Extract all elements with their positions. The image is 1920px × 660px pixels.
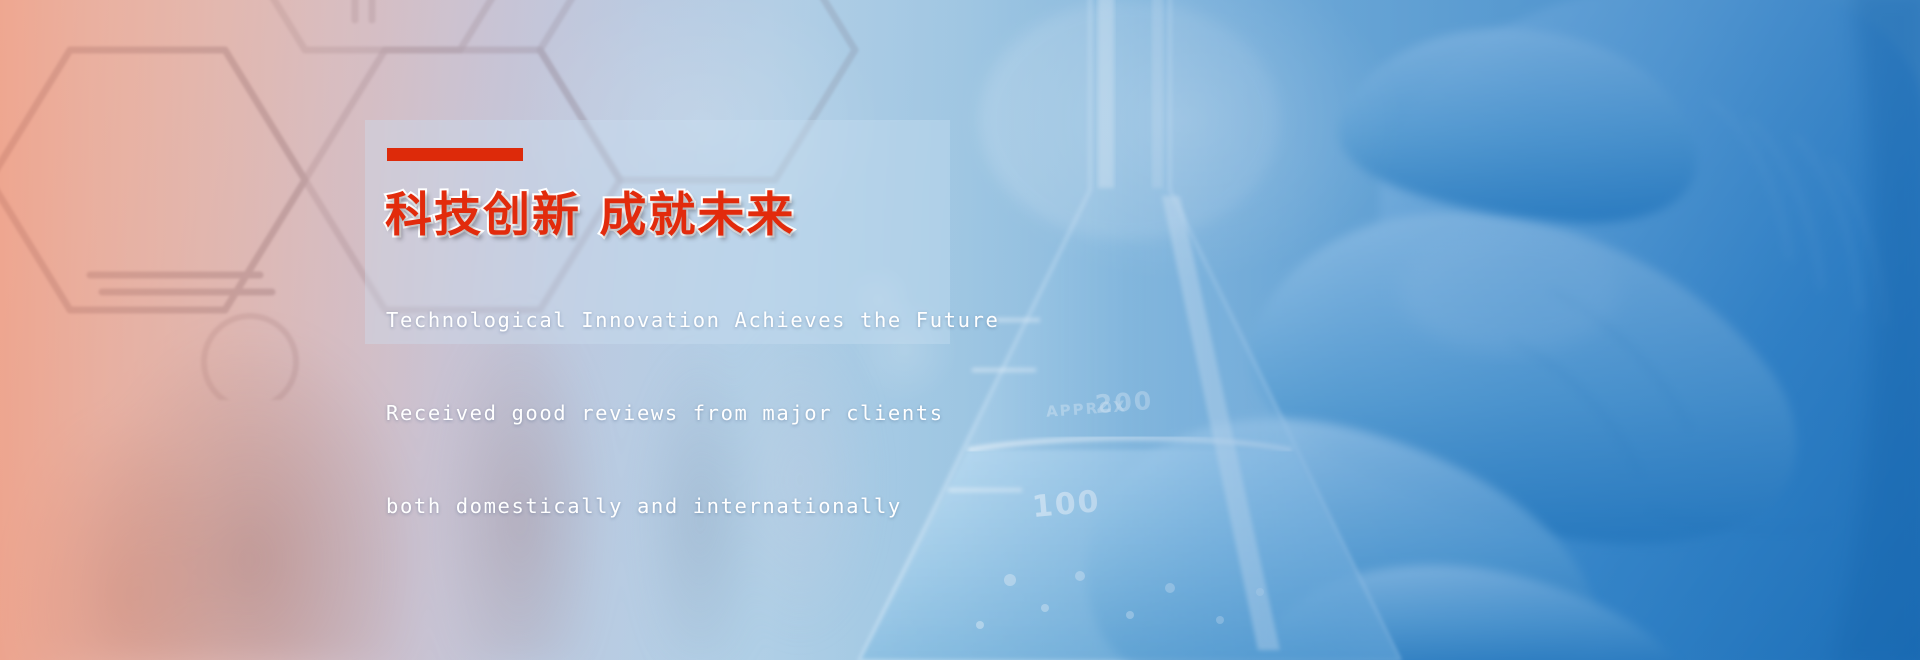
page-title: 科技创新 成就未来 xyxy=(385,176,795,245)
hero-banner: APPROX 200 100 科技创新 成就未来 Technological I… xyxy=(0,0,1920,660)
subtitle-line-3: both domestically and internationally xyxy=(386,491,999,522)
subtitle-line-1: Technological Innovation Achieves the Fu… xyxy=(386,305,999,336)
subtitle-line-2: Received good reviews from major clients xyxy=(386,398,999,429)
accent-bar xyxy=(387,148,523,161)
subtitle-block: Technological Innovation Achieves the Fu… xyxy=(386,243,999,584)
